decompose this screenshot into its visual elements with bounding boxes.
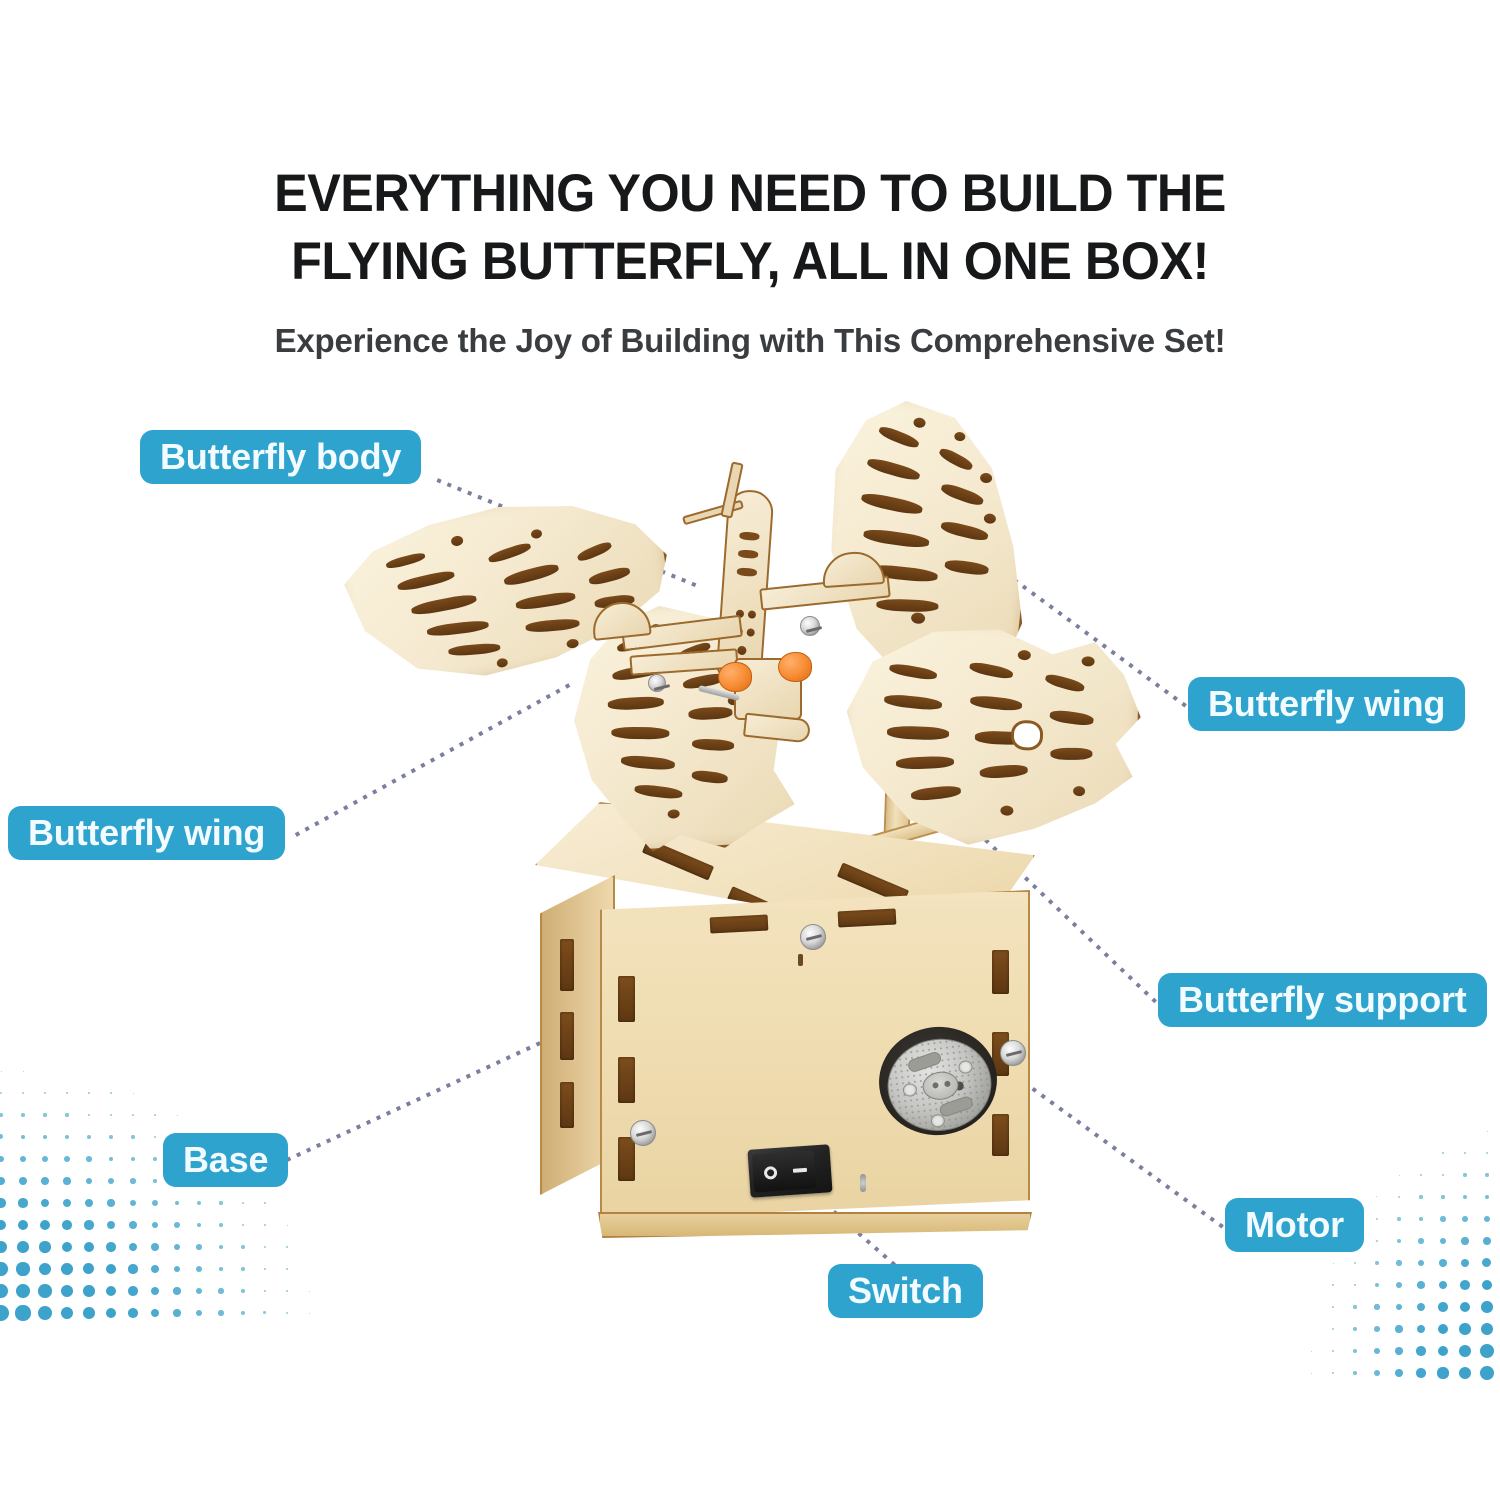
- box-front-panel: [600, 890, 1030, 1220]
- power-switch[interactable]: [747, 1144, 832, 1198]
- switch-off-marking: [764, 1166, 778, 1180]
- base-box: [540, 820, 1060, 1280]
- pivot-screw: [648, 674, 666, 692]
- box-bottom-edge: [598, 1212, 1032, 1238]
- callout-badge-butterfly-support[interactable]: Butterfly support: [1158, 973, 1487, 1027]
- switch-rocker[interactable]: [752, 1150, 816, 1192]
- callout-badge-motor[interactable]: Motor: [1225, 1198, 1364, 1252]
- callout-badge-butterfly-wing-right[interactable]: Butterfly wing: [1188, 677, 1465, 731]
- connector-cap-right: [778, 652, 812, 682]
- motor: [873, 1020, 1003, 1142]
- pivot-screw: [800, 616, 820, 636]
- callout-badge-butterfly-body[interactable]: Butterfly body: [140, 430, 421, 484]
- screw: [1000, 1040, 1026, 1066]
- screw: [630, 1120, 656, 1146]
- infographic-canvas: EVERYTHING YOU NEED TO BUILD THE FLYING …: [0, 0, 1500, 1500]
- screw: [800, 924, 826, 950]
- callout-badge-switch[interactable]: Switch: [828, 1264, 983, 1318]
- product-illustration: [0, 0, 1500, 1500]
- motor-disc: [882, 1033, 996, 1137]
- butterfly-assembly: [330, 390, 1160, 860]
- connector-cap-left: [718, 662, 752, 692]
- callout-badge-base[interactable]: Base: [163, 1133, 288, 1187]
- callout-badge-butterfly-wing-left[interactable]: Butterfly wing: [8, 806, 285, 860]
- switch-on-marking: [793, 1168, 807, 1173]
